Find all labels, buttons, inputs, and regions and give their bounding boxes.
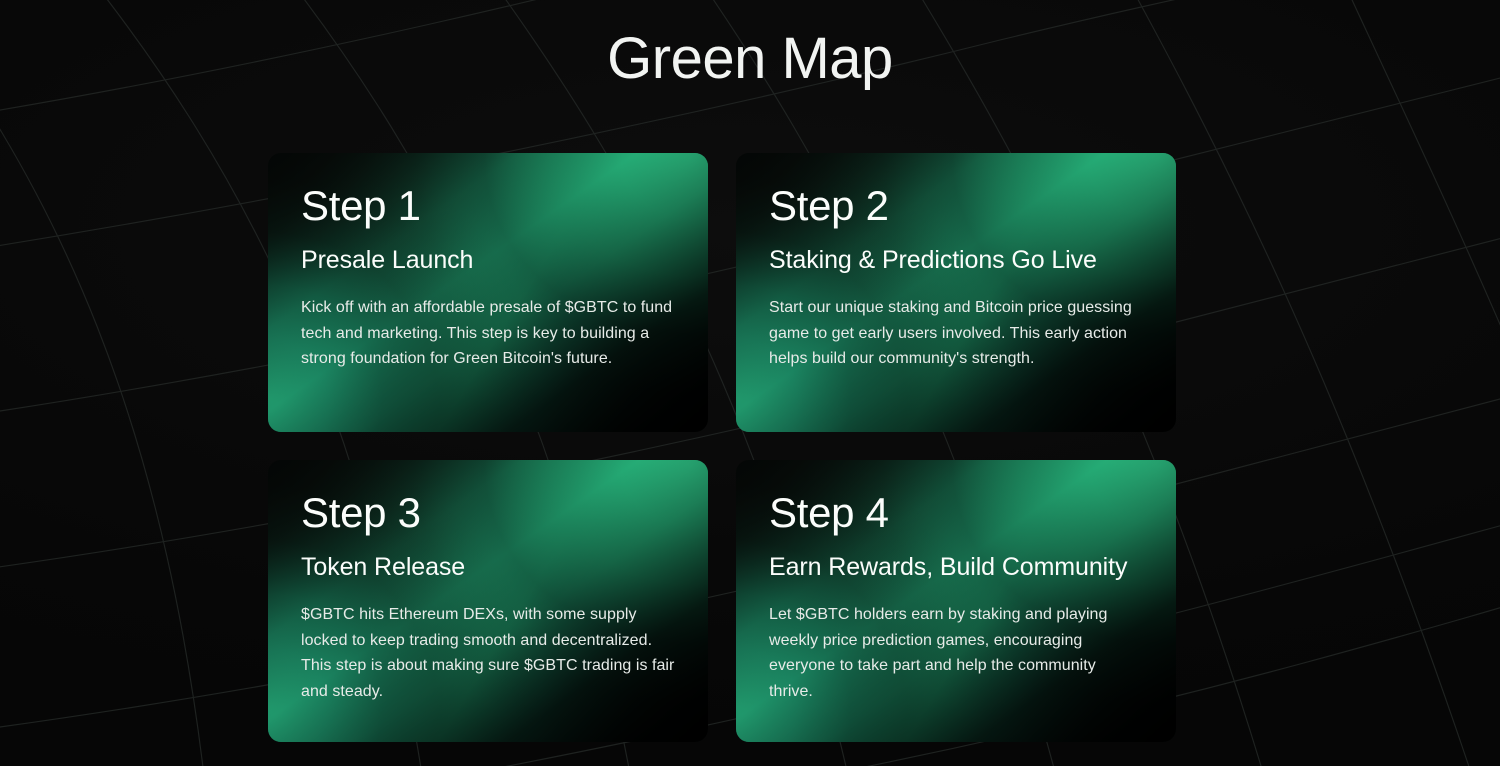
roadmap-card-step-1[interactable]: Step 1 Presale Launch Kick off with an a… [268,153,708,432]
card-subtitle: Presale Launch [301,245,676,275]
card-description: Start our unique staking and Bitcoin pri… [769,295,1144,372]
card-subtitle: Earn Rewards, Build Community [769,552,1144,582]
card-step-label: Step 1 [301,183,676,228]
card-step-label: Step 3 [301,490,676,535]
card-subtitle: Staking & Predictions Go Live [769,245,1144,275]
card-description: Let $GBTC holders earn by staking and pl… [769,602,1144,704]
roadmap-card-step-4[interactable]: Step 4 Earn Rewards, Build Community Let… [736,460,1176,742]
roadmap-card-step-2[interactable]: Step 2 Staking & Predictions Go Live Sta… [736,153,1176,432]
card-subtitle: Token Release [301,552,676,582]
card-description: $GBTC hits Ethereum DEXs, with some supp… [301,602,676,704]
roadmap-card-grid: Step 1 Presale Launch Kick off with an a… [268,153,1176,742]
card-description: Kick off with an affordable presale of $… [301,295,676,372]
page-header: Green Map [0,0,1500,93]
card-step-label: Step 2 [769,183,1144,228]
roadmap-page: Green Map Step 1 Presale Launch Kick off… [0,0,1500,766]
card-step-label: Step 4 [769,490,1144,535]
page-title: Green Map [0,26,1500,93]
roadmap-card-step-3[interactable]: Step 3 Token Release $GBTC hits Ethereum… [268,460,708,742]
